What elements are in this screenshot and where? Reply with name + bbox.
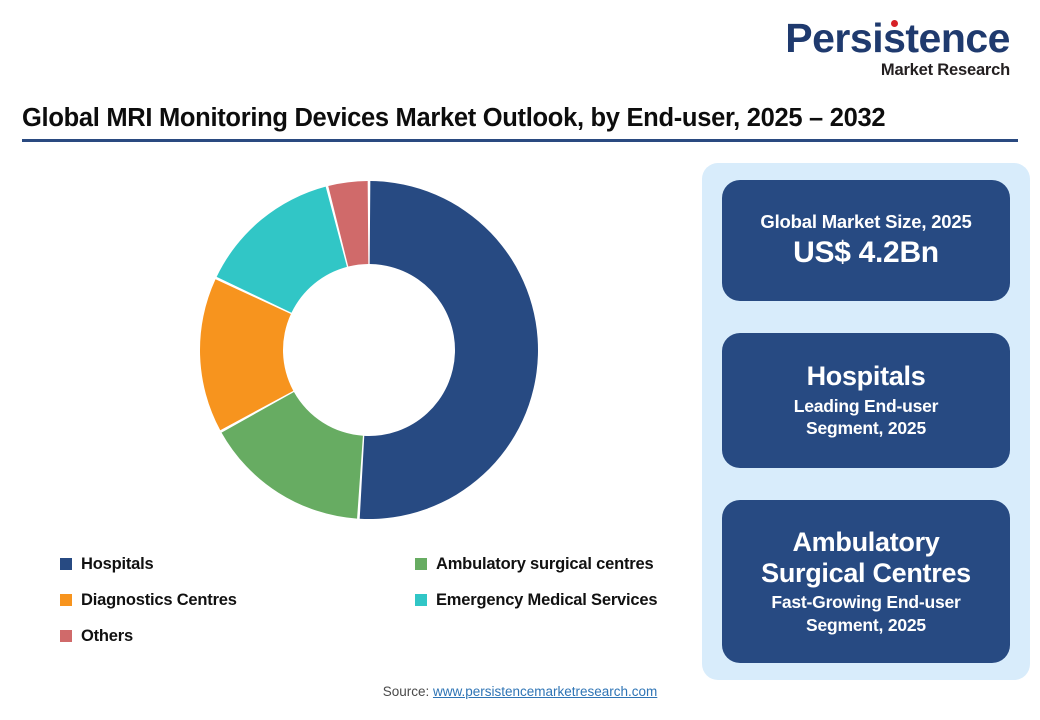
stat-card-fastest-growing-segment: Ambulatory Surgical Centres Fast-Growing…: [722, 500, 1010, 663]
fastest-growing-segment-caption-line2: Segment, 2025: [771, 614, 960, 636]
legend-label: Ambulatory surgical centres: [436, 555, 653, 574]
fastest-growing-segment-name: Ambulatory Surgical Centres: [761, 527, 971, 588]
legend-item-hospitals[interactable]: Hospitals: [60, 555, 415, 574]
legend-swatch-icon: [415, 558, 427, 570]
brand-logo: Persistence Market Research: [785, 18, 1010, 79]
leading-segment-caption-line1: Leading End-user: [794, 395, 939, 417]
legend-label: Hospitals: [81, 555, 153, 574]
fastest-growing-segment-name-line1: Ambulatory: [761, 527, 971, 558]
legend-item-emergency-medical-services[interactable]: Emergency Medical Services: [415, 591, 700, 610]
highlights-panel: Global Market Size, 2025 US$ 4.2Bn Hospi…: [702, 163, 1030, 680]
legend-swatch-icon: [60, 630, 72, 642]
leading-segment-caption: Leading End-user Segment, 2025: [794, 395, 939, 440]
fastest-growing-segment-name-line2: Surgical Centres: [761, 558, 971, 589]
donut-chart: [184, 165, 554, 535]
title-divider: [22, 139, 1018, 142]
legend-swatch-icon: [60, 558, 72, 570]
legend-label: Others: [81, 627, 133, 646]
leading-segment-name: Hospitals: [807, 361, 926, 392]
source-link[interactable]: www.persistencemarketresearch.com: [433, 684, 657, 699]
stat-card-market-size: Global Market Size, 2025 US$ 4.2Bn: [722, 180, 1010, 301]
chart-area: [0, 160, 700, 560]
legend-item-ambulatory-surgical-centres[interactable]: Ambulatory surgical centres: [415, 555, 700, 574]
legend-label: Emergency Medical Services: [436, 591, 657, 610]
legend-item-diagnostics-centres[interactable]: Diagnostics Centres: [60, 591, 415, 610]
page-title-text: Global MRI Monitoring Devices Market Out…: [22, 104, 1018, 133]
fastest-growing-segment-caption-line1: Fast-Growing End-user: [771, 591, 960, 613]
legend-swatch-icon: [60, 594, 72, 606]
brand-tagline: Market Research: [785, 62, 1010, 79]
stat-card-leading-segment: Hospitals Leading End-user Segment, 2025: [722, 333, 1010, 468]
legend-label: Diagnostics Centres: [81, 591, 237, 610]
leading-segment-caption-line2: Segment, 2025: [794, 417, 939, 439]
chart-legend: Hospitals Ambulatory surgical centres Di…: [60, 546, 700, 654]
fastest-growing-segment-caption: Fast-Growing End-user Segment, 2025: [771, 591, 960, 636]
page-title: Global MRI Monitoring Devices Market Out…: [22, 104, 1018, 142]
brand-name: Persistence: [785, 18, 1010, 59]
market-size-label: Global Market Size, 2025: [760, 210, 971, 233]
source-attribution: Source: www.persistencemarketresearch.co…: [0, 684, 1040, 699]
source-label: Source:: [383, 684, 433, 699]
donut-slice-hospitals[interactable]: [360, 181, 538, 519]
market-size-value: US$ 4.2Bn: [793, 235, 939, 271]
legend-item-others[interactable]: Others: [60, 627, 415, 646]
legend-swatch-icon: [415, 594, 427, 606]
